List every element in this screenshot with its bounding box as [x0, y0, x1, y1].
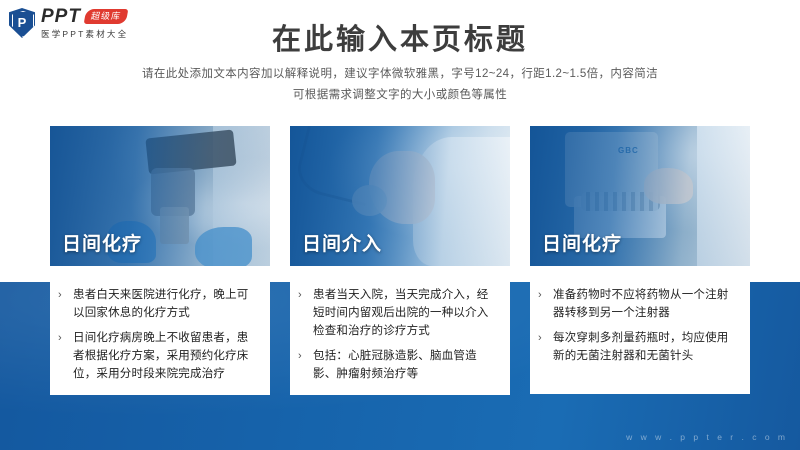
card-text-panel: › 准备药物时不应将药物从一个注射器转移到另一个注射器 › 每次穿刺多剂量药瓶时… — [530, 274, 750, 394]
bullet-list: › 准备药物时不应将药物从一个注射器转移到另一个注射器 › 每次穿刺多剂量药瓶时… — [538, 286, 740, 365]
card-caption: 日间介入 — [302, 229, 382, 256]
list-item: › 患者白天来医院进行化疗，晚上可以回家休息的化疗方式 — [58, 286, 260, 322]
card-row: 日间化疗 › 患者白天来医院进行化疗，晚上可以回家休息的化疗方式 › 日间化疗病… — [50, 126, 750, 395]
bullet-list: › 患者白天来医院进行化疗，晚上可以回家休息的化疗方式 › 日间化疗病房晚上不收… — [58, 286, 260, 383]
bullet-text: 每次穿刺多剂量药瓶时，均应使用新的无菌注射器和无菌针头 — [553, 329, 740, 365]
card-caption: 日间化疗 — [62, 229, 142, 256]
card-photo: 日间化疗 — [50, 126, 270, 266]
bullet-text: 患者当天入院，当天完成介入，经短时间内留观后出院的一种以介入检查和治疗的诊疗方式 — [313, 286, 500, 340]
card-caption: 日间化疗 — [542, 229, 622, 256]
card-text-panel: › 患者白天来医院进行化疗，晚上可以回家休息的化疗方式 › 日间化疗病房晚上不收… — [50, 274, 270, 395]
bullet-text: 包括：心脏冠脉造影、脑血管造影、肿瘤射频治疗等 — [313, 347, 500, 383]
page-subtitle: 请在此处添加文本内容加以解释说明，建议字体微软雅黑，字号12~24，行距1.2~… — [0, 64, 800, 106]
chevron-right-icon: › — [58, 329, 66, 383]
card-item[interactable]: GBC 日间化疗 › 准备药物时不应将药物从一个注射器转移到另一个注射器 › 每… — [530, 126, 750, 395]
card-item[interactable]: 日间化疗 › 患者白天来医院进行化疗，晚上可以回家休息的化疗方式 › 日间化疗病… — [50, 126, 270, 395]
list-item: › 包括：心脏冠脉造影、脑血管造影、肿瘤射频治疗等 — [298, 347, 500, 383]
bullet-list: › 患者当天入院，当天完成介入，经短时间内留观后出院的一种以介入检查和治疗的诊疗… — [298, 286, 500, 383]
bullet-text: 患者白天来医院进行化疗，晚上可以回家休息的化疗方式 — [73, 286, 260, 322]
list-item: › 日间化疗病房晚上不收留患者，患者根据化疗方案，采用预约化疗床位，采用分时段来… — [58, 329, 260, 383]
chevron-right-icon: › — [298, 286, 306, 340]
chevron-right-icon: › — [298, 347, 306, 383]
chevron-right-icon: › — [538, 286, 546, 322]
list-item: › 患者当天入院，当天完成介入，经短时间内留观后出院的一种以介入检查和治疗的诊疗… — [298, 286, 500, 340]
subtitle-line-2: 可根据需求调整文字的大小或颜色等属性 — [0, 85, 800, 106]
chevron-right-icon: › — [58, 286, 66, 322]
bullet-text: 日间化疗病房晚上不收留患者，患者根据化疗方案，采用预约化疗床位，采用分时段来院完… — [73, 329, 260, 383]
chevron-right-icon: › — [538, 329, 546, 365]
bullet-text: 准备药物时不应将药物从一个注射器转移到另一个注射器 — [553, 286, 740, 322]
card-item[interactable]: 日间介入 › 患者当天入院，当天完成介入，经短时间内留观后出院的一种以介入检查和… — [290, 126, 510, 395]
slide-root: P PPT 超级库 医学PPT素材大全 在此输入本页标题 请在此处添加文本内容加… — [0, 0, 800, 450]
card-photo: 日间介入 — [290, 126, 510, 266]
list-item: › 每次穿刺多剂量药瓶时，均应使用新的无菌注射器和无菌针头 — [538, 329, 740, 365]
page-title: 在此输入本页标题 — [0, 16, 800, 58]
subtitle-line-1: 请在此处添加文本内容加以解释说明，建议字体微软雅黑，字号12~24，行距1.2~… — [0, 64, 800, 85]
card-photo: GBC 日间化疗 — [530, 126, 750, 266]
footer-watermark: w w w . p p t e r . c o m — [626, 432, 788, 442]
list-item: › 准备药物时不应将药物从一个注射器转移到另一个注射器 — [538, 286, 740, 322]
card-text-panel: › 患者当天入院，当天完成介入，经短时间内留观后出院的一种以介入检查和治疗的诊疗… — [290, 274, 510, 395]
